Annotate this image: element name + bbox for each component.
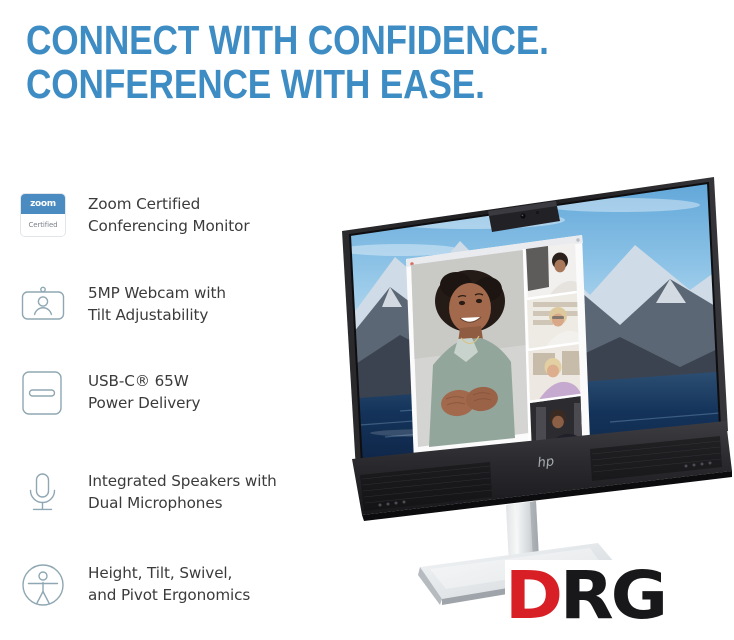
usb-c-port-icon [20, 370, 72, 416]
headline: CONNECT WITH CONFIDENCE. CONFERENCE WITH… [26, 18, 686, 106]
product-feature-banner: CONNECT WITH CONFIDENCE. CONFERENCE WITH… [0, 0, 734, 640]
feature-text: Zoom Certified Conferencing Monitor [88, 193, 250, 237]
logo-letters-rg: RG [560, 557, 665, 634]
ergonomics-accessibility-icon [20, 562, 72, 608]
feature-text: 5MP Webcam with Tilt Adjustability [88, 282, 226, 326]
feature-line-1: 5MP Webcam with [88, 283, 226, 305]
feature-text: Height, Tilt, Swivel, and Pivot Ergonomi… [88, 562, 250, 606]
feature-line-1: Zoom Certified [88, 194, 250, 216]
zoom-certified-badge-icon: zoom Certified [20, 193, 72, 239]
headline-line-1: CONNECT WITH CONFIDENCE. [26, 18, 594, 62]
drg-logo: DRG [505, 560, 734, 632]
feature-text: Integrated Speakers with Dual Microphone… [88, 470, 277, 514]
zoom-badge-top-label: zoom [30, 199, 56, 209]
feature-line-2: Conferencing Monitor [88, 216, 250, 238]
feature-item-zoom-certified: zoom Certified Zoom Certified Conferenci… [20, 193, 250, 239]
feature-line-2: and Pivot Ergonomics [88, 585, 250, 607]
zoom-badge-bottom-label: Certified [28, 221, 57, 229]
headline-line-2: CONFERENCE WITH EASE. [26, 62, 594, 106]
feature-item-microphone: Integrated Speakers with Dual Microphone… [20, 470, 277, 516]
feature-item-usb-c: USB-C® 65W Power Delivery [20, 370, 200, 416]
feature-line-1: USB-C® 65W [88, 371, 200, 393]
feature-item-webcam: 5MP Webcam with Tilt Adjustability [20, 282, 226, 328]
feature-text: USB-C® 65W Power Delivery [88, 370, 200, 414]
feature-item-ergonomics: Height, Tilt, Swivel, and Pivot Ergonomi… [20, 562, 250, 608]
webcam-person-icon [20, 282, 72, 328]
product-image-conferencing-monitor: hp [290, 175, 734, 605]
feature-line-1: Height, Tilt, Swivel, [88, 563, 250, 585]
feature-line-2: Dual Microphones [88, 493, 277, 515]
microphone-icon [20, 470, 72, 516]
feature-line-2: Tilt Adjustability [88, 305, 226, 327]
logo-letter-d: D [505, 557, 560, 634]
feature-line-1: Integrated Speakers with [88, 471, 277, 493]
hp-brand-mark: hp [537, 454, 555, 471]
feature-line-2: Power Delivery [88, 393, 200, 415]
svg-text:hp: hp [537, 454, 555, 471]
